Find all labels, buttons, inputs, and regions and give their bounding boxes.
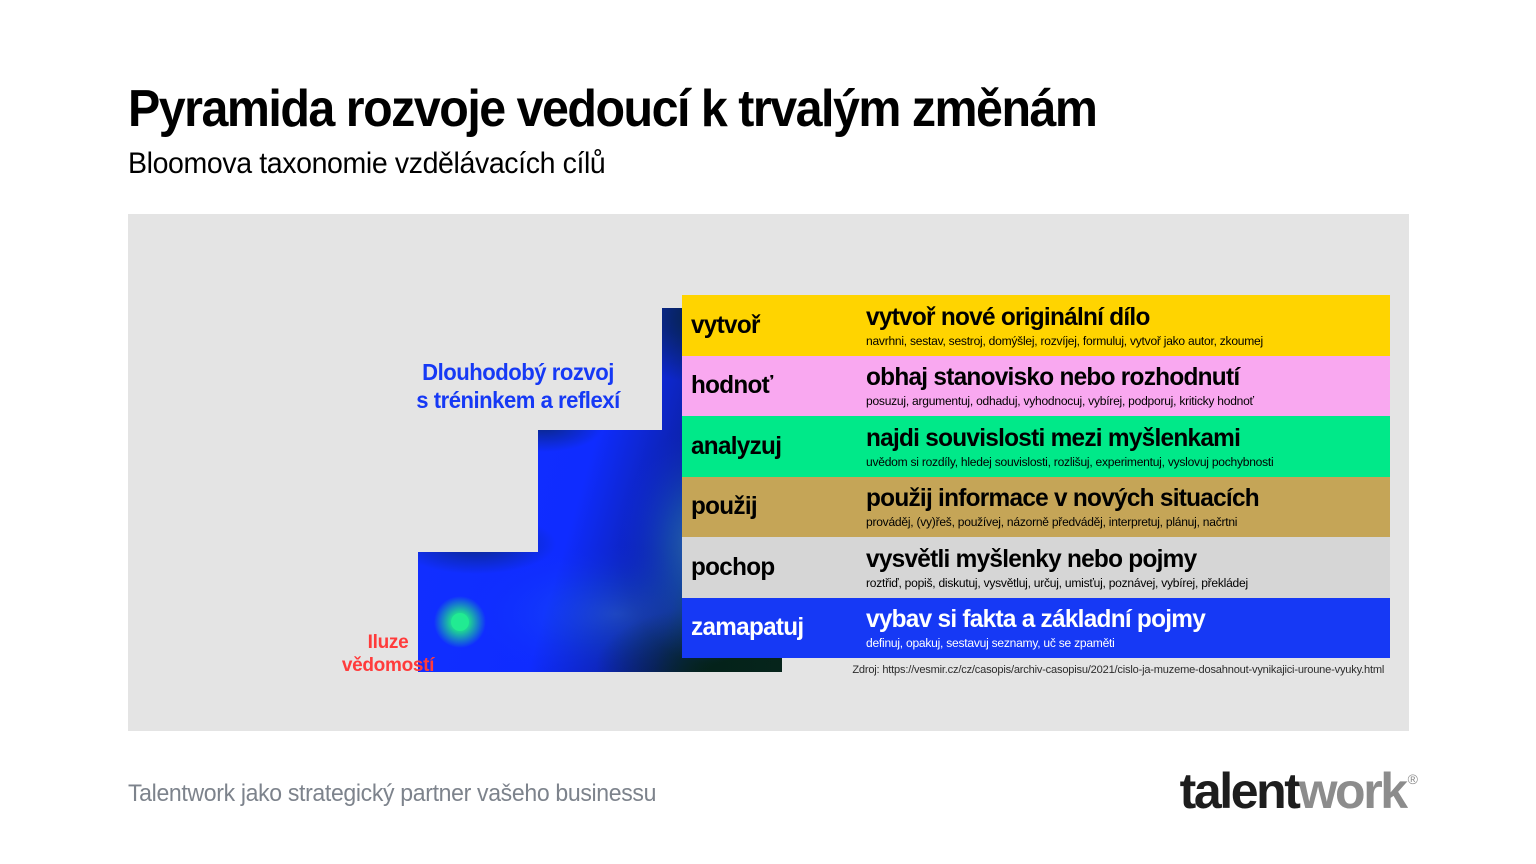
table-row: použij použij informace v nových situací… [682,477,1390,538]
row-headline: vybav si fakta a základní pojmy [866,605,1371,633]
row-body: vysvětli myšlenky nebo pojmy roztřiď, po… [866,537,1390,598]
row-verbs: uvědom si rozdíly, hledej souvislosti, r… [866,455,1374,469]
row-verbs: prováděj, (vy)řeš, používej, názorně pře… [866,515,1374,529]
row-headline: použij informace v nových situacích [866,484,1371,512]
label-illusion-of-knowledge: Iluze vědomostí [288,632,488,678]
row-keyword: zamapatuj [682,598,866,659]
row-keyword: vytvoř [682,295,866,356]
row-headline: vysvětli myšlenky nebo pojmy [866,545,1371,573]
taxonomy-table: vytvoř vytvoř nové originální dílo navrh… [682,295,1390,658]
row-verbs: navrhni, sestav, sestroj, domýšlej, rozv… [866,334,1374,348]
registered-trademark-icon: ® [1408,772,1418,786]
page-title: Pyramida rozvoje vedoucí k trvalým změná… [128,82,1328,137]
row-body: vytvoř nové originální dílo navrhni, ses… [866,295,1390,356]
table-row: analyzuj najdi souvislosti mezi myšlenka… [682,416,1390,477]
row-keyword: pochop [682,537,866,598]
infographic-root: Pyramida rozvoje vedoucí k trvalým změná… [0,0,1536,864]
source-citation: Zdroj: https://vesmir.cz/cz/casopis/arch… [696,664,1390,676]
row-verbs: posuzuj, argumentuj, odhaduj, vyhodnocuj… [866,394,1374,408]
logo-part-talent: talent [1180,766,1299,816]
label-long-term-development-line1: Dlouhodobý rozvoj [374,358,662,386]
talentwork-logo: talent work ® [1180,766,1418,816]
table-row: hodnoť obhaj stanovisko nebo rozhodnutí … [682,356,1390,417]
table-row: zamapatuj vybav si fakta a základní pojm… [682,598,1390,659]
row-keyword: použij [682,477,866,538]
row-body: obhaj stanovisko nebo rozhodnutí posuzuj… [866,356,1390,417]
footer-tagline: Talentwork jako strategický partner vaše… [128,780,656,808]
row-keyword: analyzuj [682,416,866,477]
label-illusion-of-knowledge-line2: vědomostí [288,655,488,678]
row-headline: obhaj stanovisko nebo rozhodnutí [866,363,1371,391]
label-long-term-development-line2: s tréninkem a reflexí [374,386,662,414]
row-body: najdi souvislosti mezi myšlenkami uvědom… [866,416,1390,477]
row-headline: vytvoř nové originální dílo [866,303,1371,331]
label-illusion-of-knowledge-line1: Iluze [288,632,488,655]
table-row: vytvoř vytvoř nové originální dílo navrh… [682,295,1390,356]
content-panel: Dlouhodobý rozvoj s tréninkem a reflexí … [128,214,1409,731]
page-subtitle: Bloomova taxonomie vzdělávacích cílů [128,147,1354,182]
logo-part-work: work [1299,766,1406,816]
row-verbs: roztřiď, popiš, diskutuj, vysvětluj, urč… [866,576,1374,590]
header: Pyramida rozvoje vedoucí k trvalým změná… [128,82,1418,181]
row-body: použij informace v nových situacích prov… [866,477,1390,538]
row-keyword: hodnoť [682,356,866,417]
label-long-term-development: Dlouhodobý rozvoj s tréninkem a reflexí [374,358,662,414]
row-verbs: definuj, opakuj, sestavuj seznamy, uč se… [866,636,1374,650]
row-body: vybav si fakta a základní pojmy definuj,… [866,598,1390,659]
table-row: pochop vysvětli myšlenky nebo pojmy rozt… [682,537,1390,598]
row-headline: najdi souvislosti mezi myšlenkami [866,424,1371,452]
